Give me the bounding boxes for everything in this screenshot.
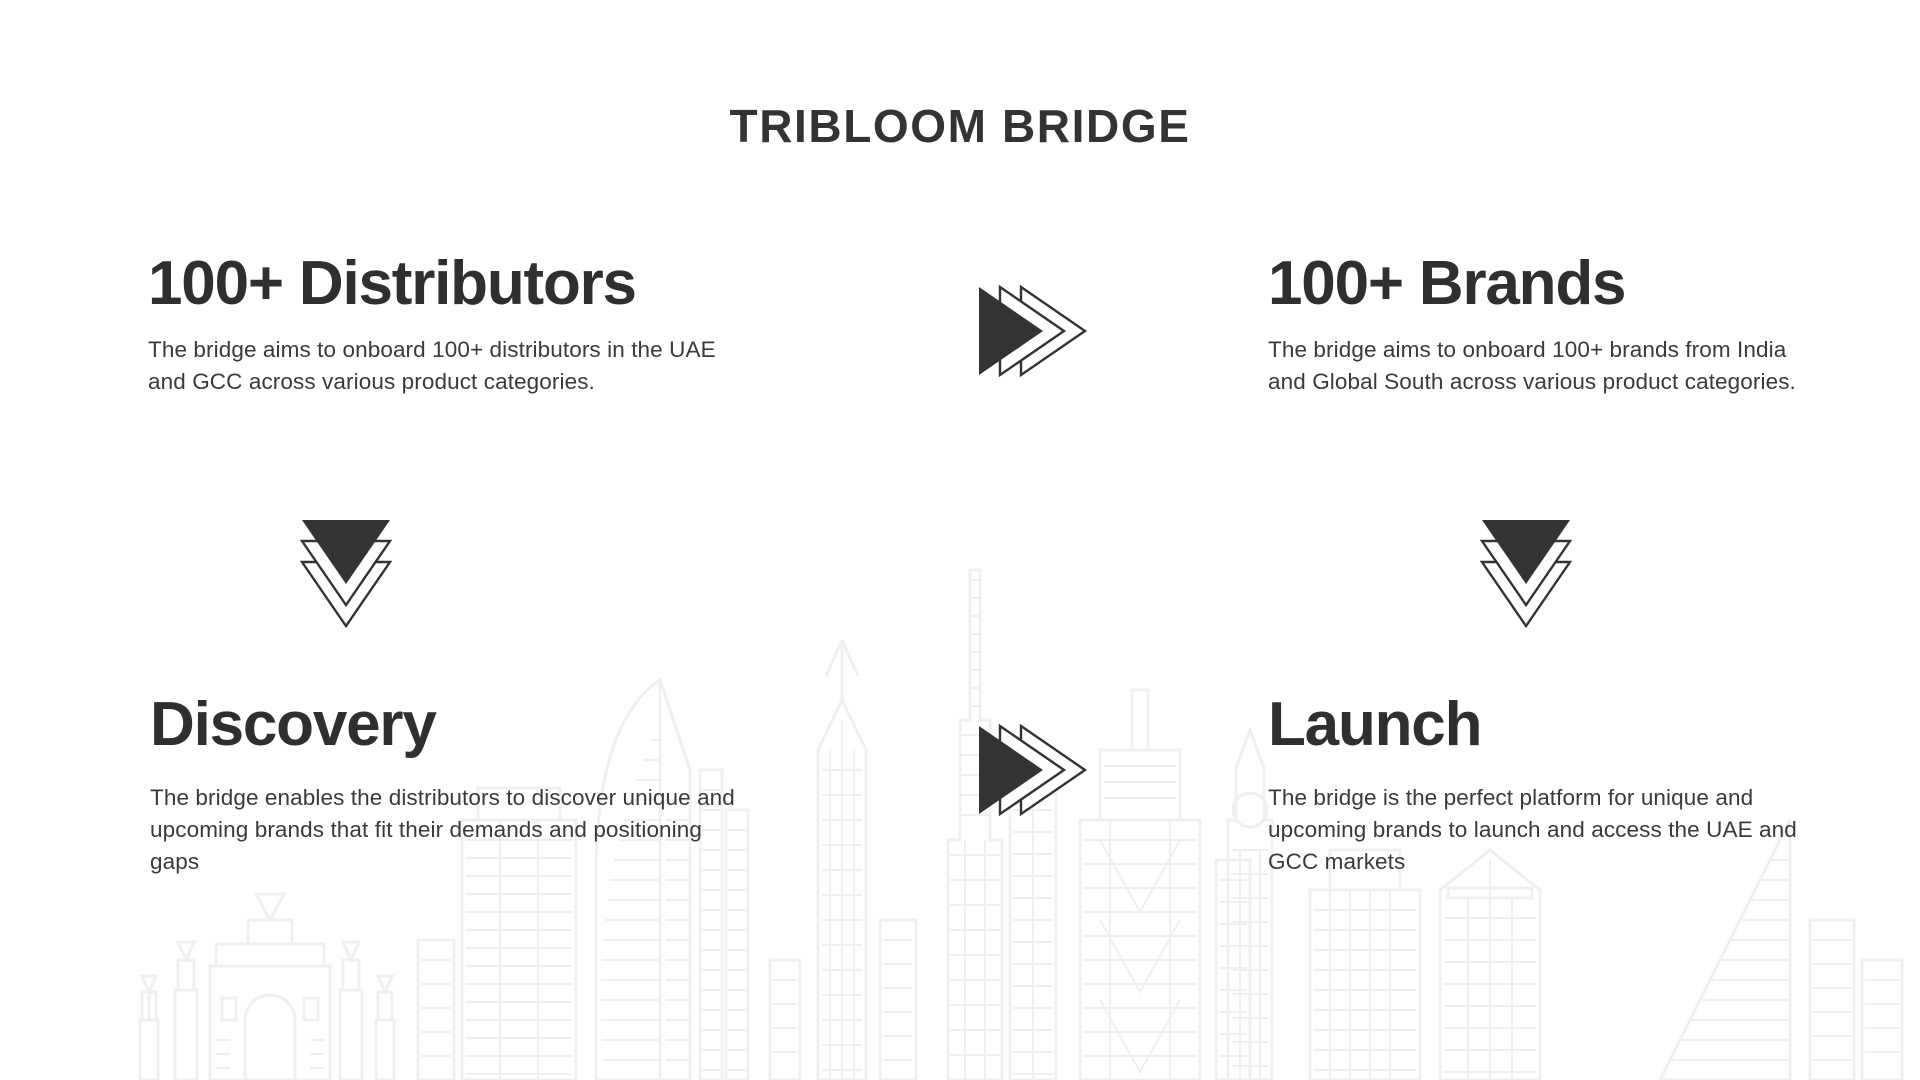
page-title: TRIBLOOM BRIDGE (0, 103, 1920, 149)
triple-chevron-down-icon (298, 516, 394, 634)
panel-launch-body: The bridge is the perfect platform for u… (1268, 782, 1848, 878)
triple-chevron-right-icon (975, 722, 1093, 818)
panel-distributors: 100+ Distributors The bridge aims to onb… (148, 252, 748, 398)
panel-brands: 100+ Brands The bridge aims to onboard 1… (1268, 252, 1828, 398)
panel-launch: Launch The bridge is the perfect platfor… (1268, 693, 1848, 878)
panel-discovery-body: The bridge enables the distributors to d… (150, 782, 750, 878)
triple-chevron-right-icon (975, 283, 1093, 379)
panel-launch-heading: Launch (1268, 693, 1848, 756)
panel-discovery: Discovery The bridge enables the distrib… (150, 693, 750, 878)
panel-brands-heading: 100+ Brands (1268, 252, 1828, 315)
panel-distributors-heading: 100+ Distributors (148, 252, 748, 315)
panel-distributors-body: The bridge aims to onboard 100+ distribu… (148, 334, 748, 398)
panel-brands-body: The bridge aims to onboard 100+ brands f… (1268, 334, 1828, 398)
panel-discovery-heading: Discovery (150, 693, 750, 756)
triple-chevron-down-icon (1478, 516, 1574, 634)
